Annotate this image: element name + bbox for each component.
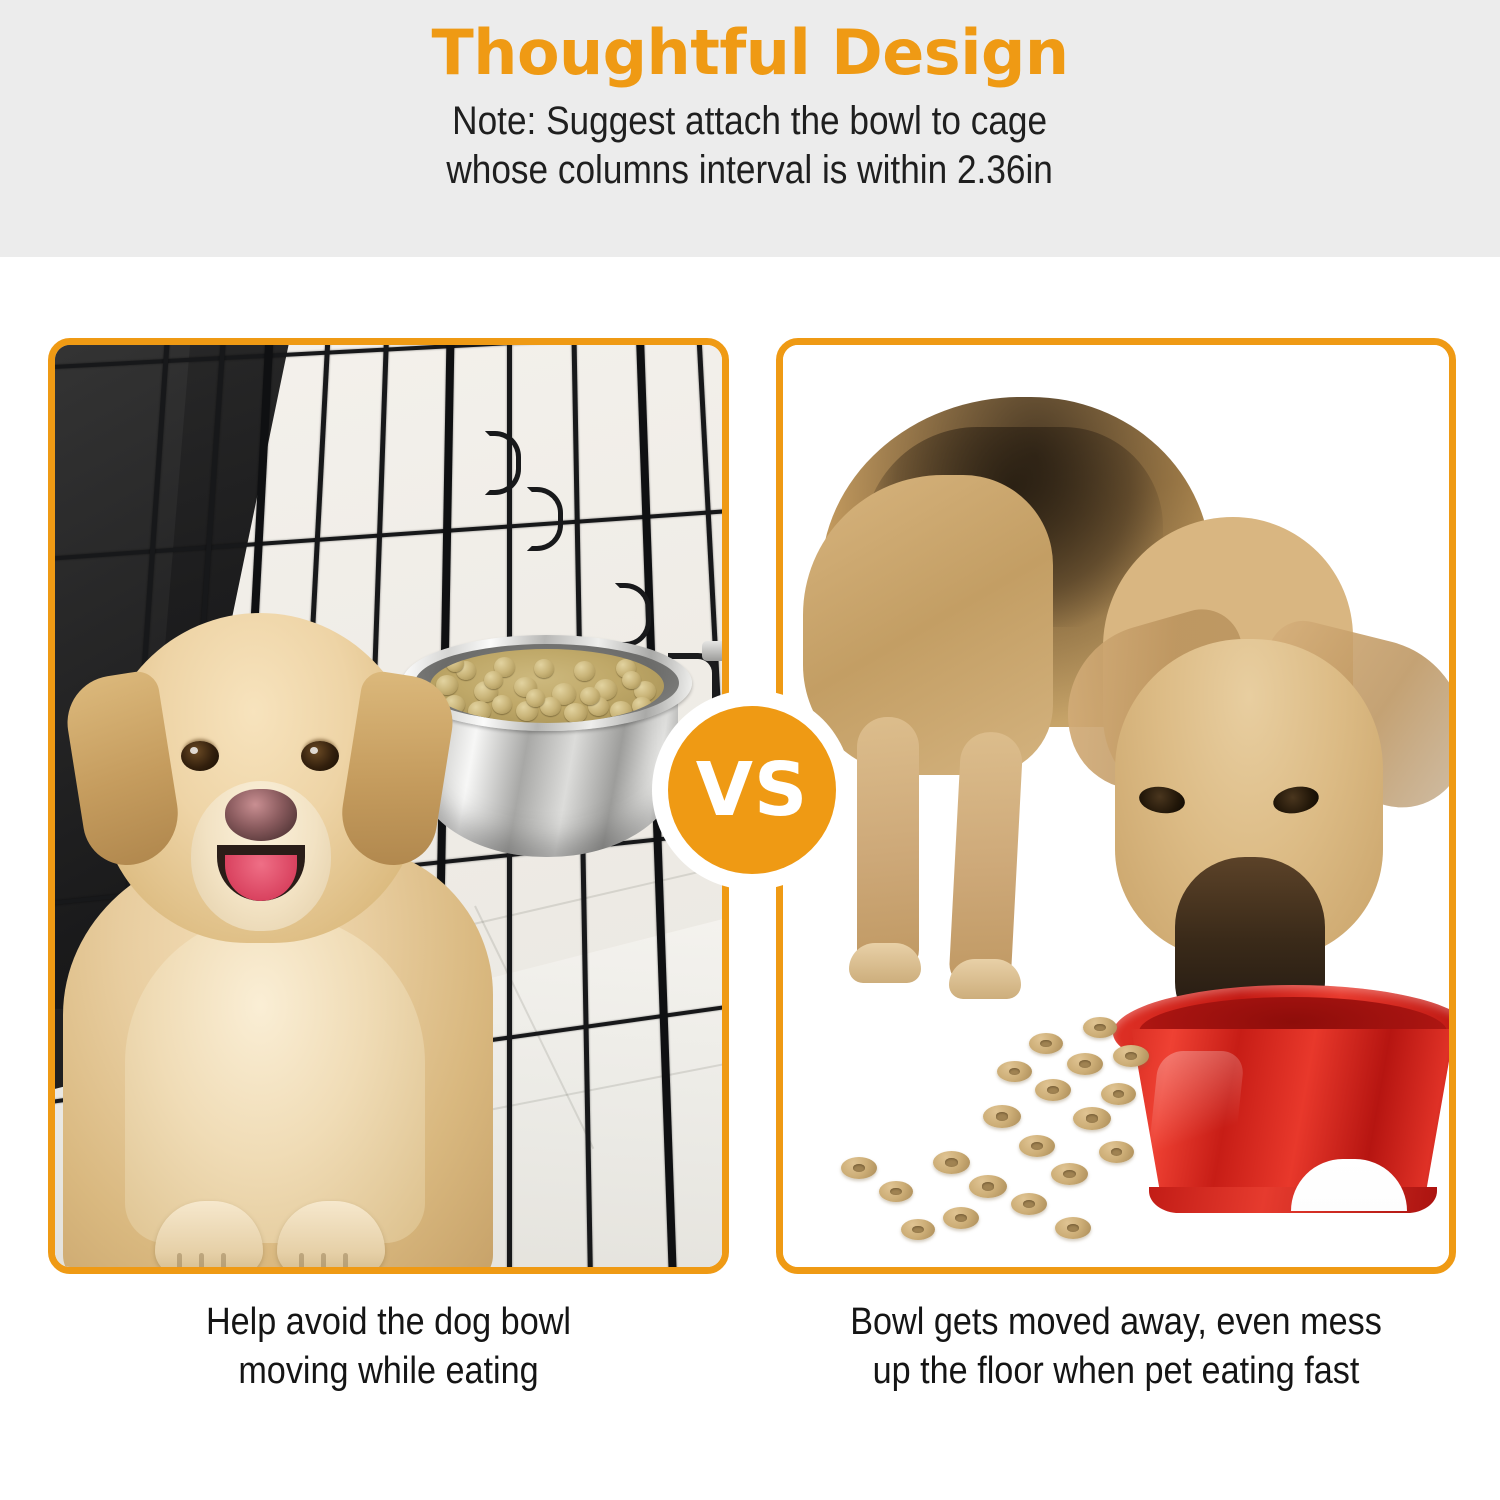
golden-retriever-dog (63, 613, 493, 1267)
versus-badge-circle: VS (668, 706, 836, 874)
versus-badge-label: VS (696, 753, 809, 827)
caption-left-line-2: moving while eating (82, 1347, 695, 1396)
header-band: Thoughtful Design Note: Suggest attach t… (0, 0, 1500, 257)
subtitle-line-2: whose columns interval is within 2.36in (447, 146, 1054, 195)
versus-badge: VS (652, 690, 852, 890)
caption-right-line-2: up the floor when pet eating fast (810, 1347, 1422, 1396)
photo-crate-mounted-bowl (55, 345, 722, 1267)
comparison-panel-left (48, 338, 729, 1274)
dog-ear-right (335, 669, 460, 872)
caption-right: Bowl gets moved away, even mess up the f… (810, 1298, 1422, 1395)
caption-left: Help avoid the dog bowl moving while eat… (82, 1298, 695, 1395)
page-title: Thoughtful Design (432, 18, 1069, 87)
dog-ear-left (61, 669, 186, 872)
dog-nose (225, 789, 297, 841)
caption-left-line-1: Help avoid the dog bowl (82, 1298, 695, 1347)
subtitle-line-1: Note: Suggest attach the bowl to cage (447, 97, 1054, 146)
photo-loose-red-bowl (783, 345, 1449, 1267)
dog-chest (125, 913, 425, 1243)
bowl-mounting-screw (702, 641, 722, 661)
spilled-kibble-pile (783, 345, 1449, 1267)
dog-eye-right (301, 741, 339, 771)
caption-right-line-1: Bowl gets moved away, even mess (810, 1298, 1422, 1347)
crate-scene-background (55, 345, 722, 1267)
crate-latch-hook (527, 487, 563, 551)
crate-latch-hook (485, 431, 521, 495)
page-subtitle: Note: Suggest attach the bowl to cage wh… (447, 97, 1054, 195)
comparison-panel-right (776, 338, 1456, 1274)
dog-head (99, 613, 421, 943)
white-studio-background (783, 345, 1449, 1267)
dog-eye-left (181, 741, 219, 771)
